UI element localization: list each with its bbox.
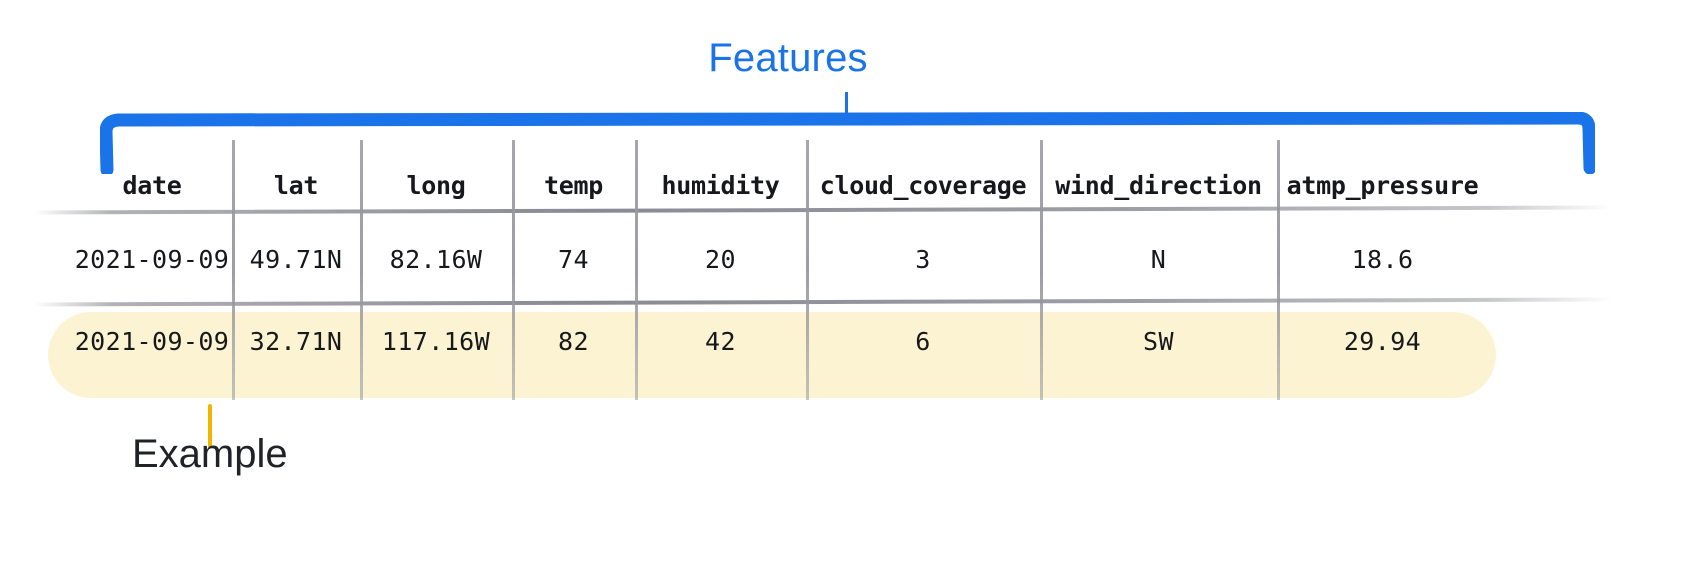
table-header-row: date lat long temp humidity cloud_covera… (0, 156, 1686, 216)
table-cell: 82.16W (360, 230, 512, 290)
table-cell: 2021-09-09 (72, 230, 232, 290)
table-cell: 82 (512, 312, 635, 372)
table-cell: 2021-09-09 (72, 312, 232, 372)
table-cell: 49.71N (232, 230, 360, 290)
column-header: wind_direction (1040, 156, 1277, 216)
column-header: atmp_pressure (1277, 156, 1488, 216)
table-cell: 117.16W (360, 312, 512, 372)
column-header: humidity (635, 156, 806, 216)
table-cell: SW (1040, 312, 1277, 372)
table-cell: 18.6 (1277, 230, 1488, 290)
table-cell: N (1040, 230, 1277, 290)
table-cell: 32.71N (232, 312, 360, 372)
table-row: 2021-09-09 32.71N 117.16W 82 42 6 SW 29.… (0, 312, 1686, 372)
column-header: temp (512, 156, 635, 216)
table-cell: 74 (512, 230, 635, 290)
features-annotation-text: Features (708, 36, 867, 80)
table-cell: 29.94 (1277, 312, 1488, 372)
table-row: 2021-09-09 49.71N 82.16W 74 20 3 N 18.6 (0, 230, 1686, 290)
data-table: date lat long temp humidity cloud_covera… (0, 140, 1686, 402)
column-header: date (72, 156, 232, 216)
diagram-canvas: Features date lat long temp humidity clo… (0, 0, 1686, 566)
column-header: long (360, 156, 512, 216)
table-cell: 6 (806, 312, 1040, 372)
table-cell: 20 (635, 230, 806, 290)
table-cell: 42 (635, 312, 806, 372)
table-cell: 3 (806, 230, 1040, 290)
features-annotation-label: Features (0, 36, 1686, 81)
column-header: lat (232, 156, 360, 216)
example-annotation-label: Example (132, 432, 288, 477)
table-row-rule (34, 298, 1612, 307)
column-header: cloud_coverage (806, 156, 1040, 216)
